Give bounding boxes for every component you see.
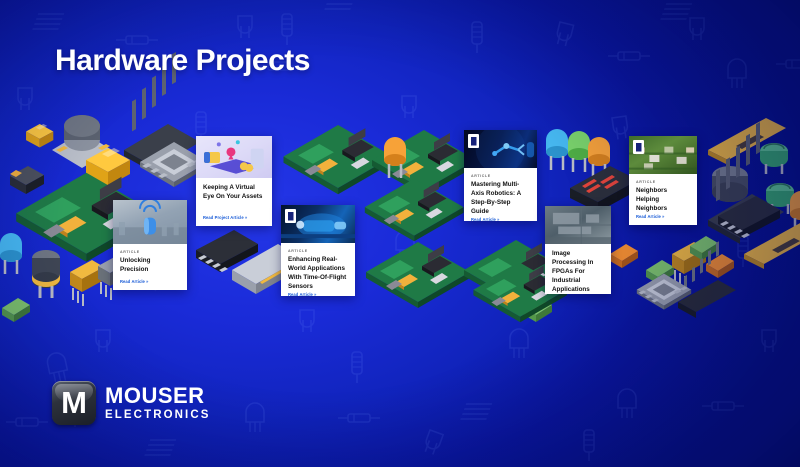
article-card[interactable]: ARTICLEEnhancing Real-World Applications… <box>281 205 355 296</box>
card-body: ARTICLEUnlocking Precision <box>113 244 187 279</box>
card-thumbnail <box>113 200 187 244</box>
thumbnail-art <box>545 206 611 244</box>
logo-letter: M <box>61 387 87 418</box>
card-thumbnail <box>545 206 611 244</box>
card-body: ARTICLENeighbors Helping Neighbors <box>629 174 697 214</box>
article-card[interactable]: Keeping A Virtual Eye On Your AssetsRead… <box>196 136 272 226</box>
card-body: Keeping A Virtual Eye On Your Assets <box>196 178 272 215</box>
logo-wordmark: MOUSER ELECTRONICS <box>105 385 211 422</box>
card-eyebrow: ARTICLE <box>120 250 180 254</box>
card-body: ARTICLEEnhancing Real-World Applications… <box>281 243 355 292</box>
card-body: Image Processing In FPGAs For Industrial… <box>545 244 611 294</box>
card-thumbnail <box>196 136 272 178</box>
mouser-badge-icon <box>468 134 479 148</box>
mouser-badge-icon <box>285 209 296 223</box>
hero-banner: Hardware Projects Keeping A Virtual Eye … <box>0 0 800 467</box>
card-body: ARTICLEMastering Multi-Axis Robotics: A … <box>464 168 537 217</box>
mouser-logo[interactable]: M MOUSER ELECTRONICS <box>52 381 211 425</box>
article-card[interactable]: ARTICLEUnlocking PrecisionRead Article » <box>113 200 187 290</box>
logo-subname: ELECTRONICS <box>105 410 211 422</box>
article-card[interactable]: Image Processing In FPGAs For Industrial… <box>545 206 611 294</box>
read-article-link[interactable]: Read Article » <box>113 279 187 290</box>
card-title: Neighbors Helping Neighbors <box>636 187 690 214</box>
mouser-badge-icon <box>633 140 644 154</box>
card-title: Image Processing In FPGAs For Industrial… <box>552 250 604 294</box>
thumbnail-art <box>113 200 187 244</box>
card-thumbnail <box>281 205 355 243</box>
card-eyebrow: ARTICLE <box>636 180 690 184</box>
card-eyebrow: ARTICLE <box>288 249 348 253</box>
article-card[interactable]: ARTICLEMastering Multi-Axis Robotics: A … <box>464 130 537 221</box>
thumbnail-art <box>196 136 272 178</box>
read-article-link[interactable]: Read Article » <box>629 214 697 225</box>
page-title: Hardware Projects <box>55 44 310 78</box>
card-title: Enhancing Real-World Applications With T… <box>288 256 348 292</box>
card-title: Unlocking Precision <box>120 257 180 275</box>
logo-mark-icon: M <box>52 381 96 425</box>
article-card[interactable]: ARTICLENeighbors Helping NeighborsRead A… <box>629 136 697 225</box>
read-article-link[interactable]: Read Project Article » <box>196 215 272 226</box>
card-thumbnail <box>464 130 537 168</box>
card-thumbnail <box>629 136 697 174</box>
card-eyebrow: ARTICLE <box>471 174 530 178</box>
read-article-link[interactable]: Read Article » <box>281 292 355 296</box>
logo-name: MOUSER <box>105 385 211 407</box>
read-article-link[interactable]: Read Article » <box>464 217 537 221</box>
card-title: Keeping A Virtual Eye On Your Assets <box>203 184 265 202</box>
card-title: Mastering Multi-Axis Robotics: A Step-By… <box>471 181 530 217</box>
